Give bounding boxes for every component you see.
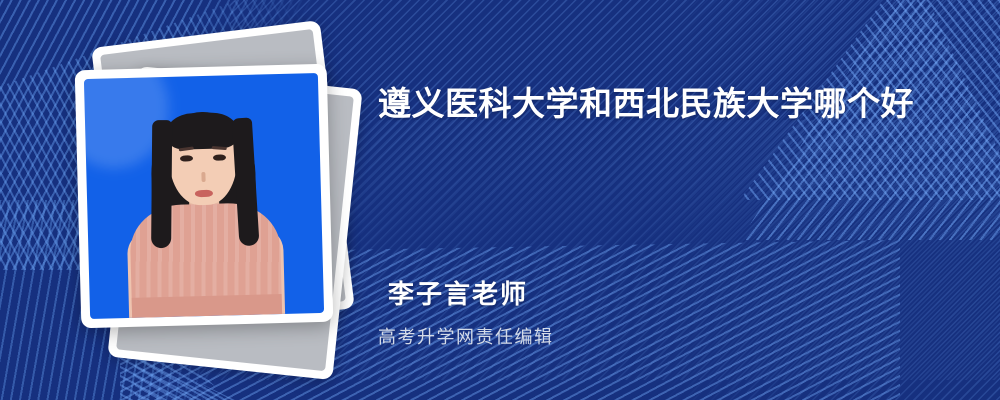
author-photo-card — [75, 64, 334, 329]
author-photo-stack — [60, 35, 360, 345]
article-header-banner: 遵义医科大学和西北民族大学哪个好 李子言老师 高考升学网责任编辑 — [0, 0, 1000, 400]
hair-fringe-shape — [165, 112, 240, 150]
author-role: 高考升学网责任编辑 — [378, 323, 554, 349]
mouth-shape — [195, 190, 213, 197]
banner-text-column: 遵义医科大学和西北民族大学哪个好 李子言老师 高考升学网责任编辑 — [378, 0, 978, 400]
nose-shape — [201, 172, 205, 182]
portrait-figure-icon — [84, 73, 324, 319]
author-portrait-photo — [84, 73, 324, 319]
dress-waist-shape — [132, 294, 282, 318]
author-name: 李子言老师 — [388, 274, 528, 311]
page-title: 遵义医科大学和西北民族大学哪个好 — [378, 76, 948, 132]
hair-strand-left-shape — [151, 120, 172, 248]
